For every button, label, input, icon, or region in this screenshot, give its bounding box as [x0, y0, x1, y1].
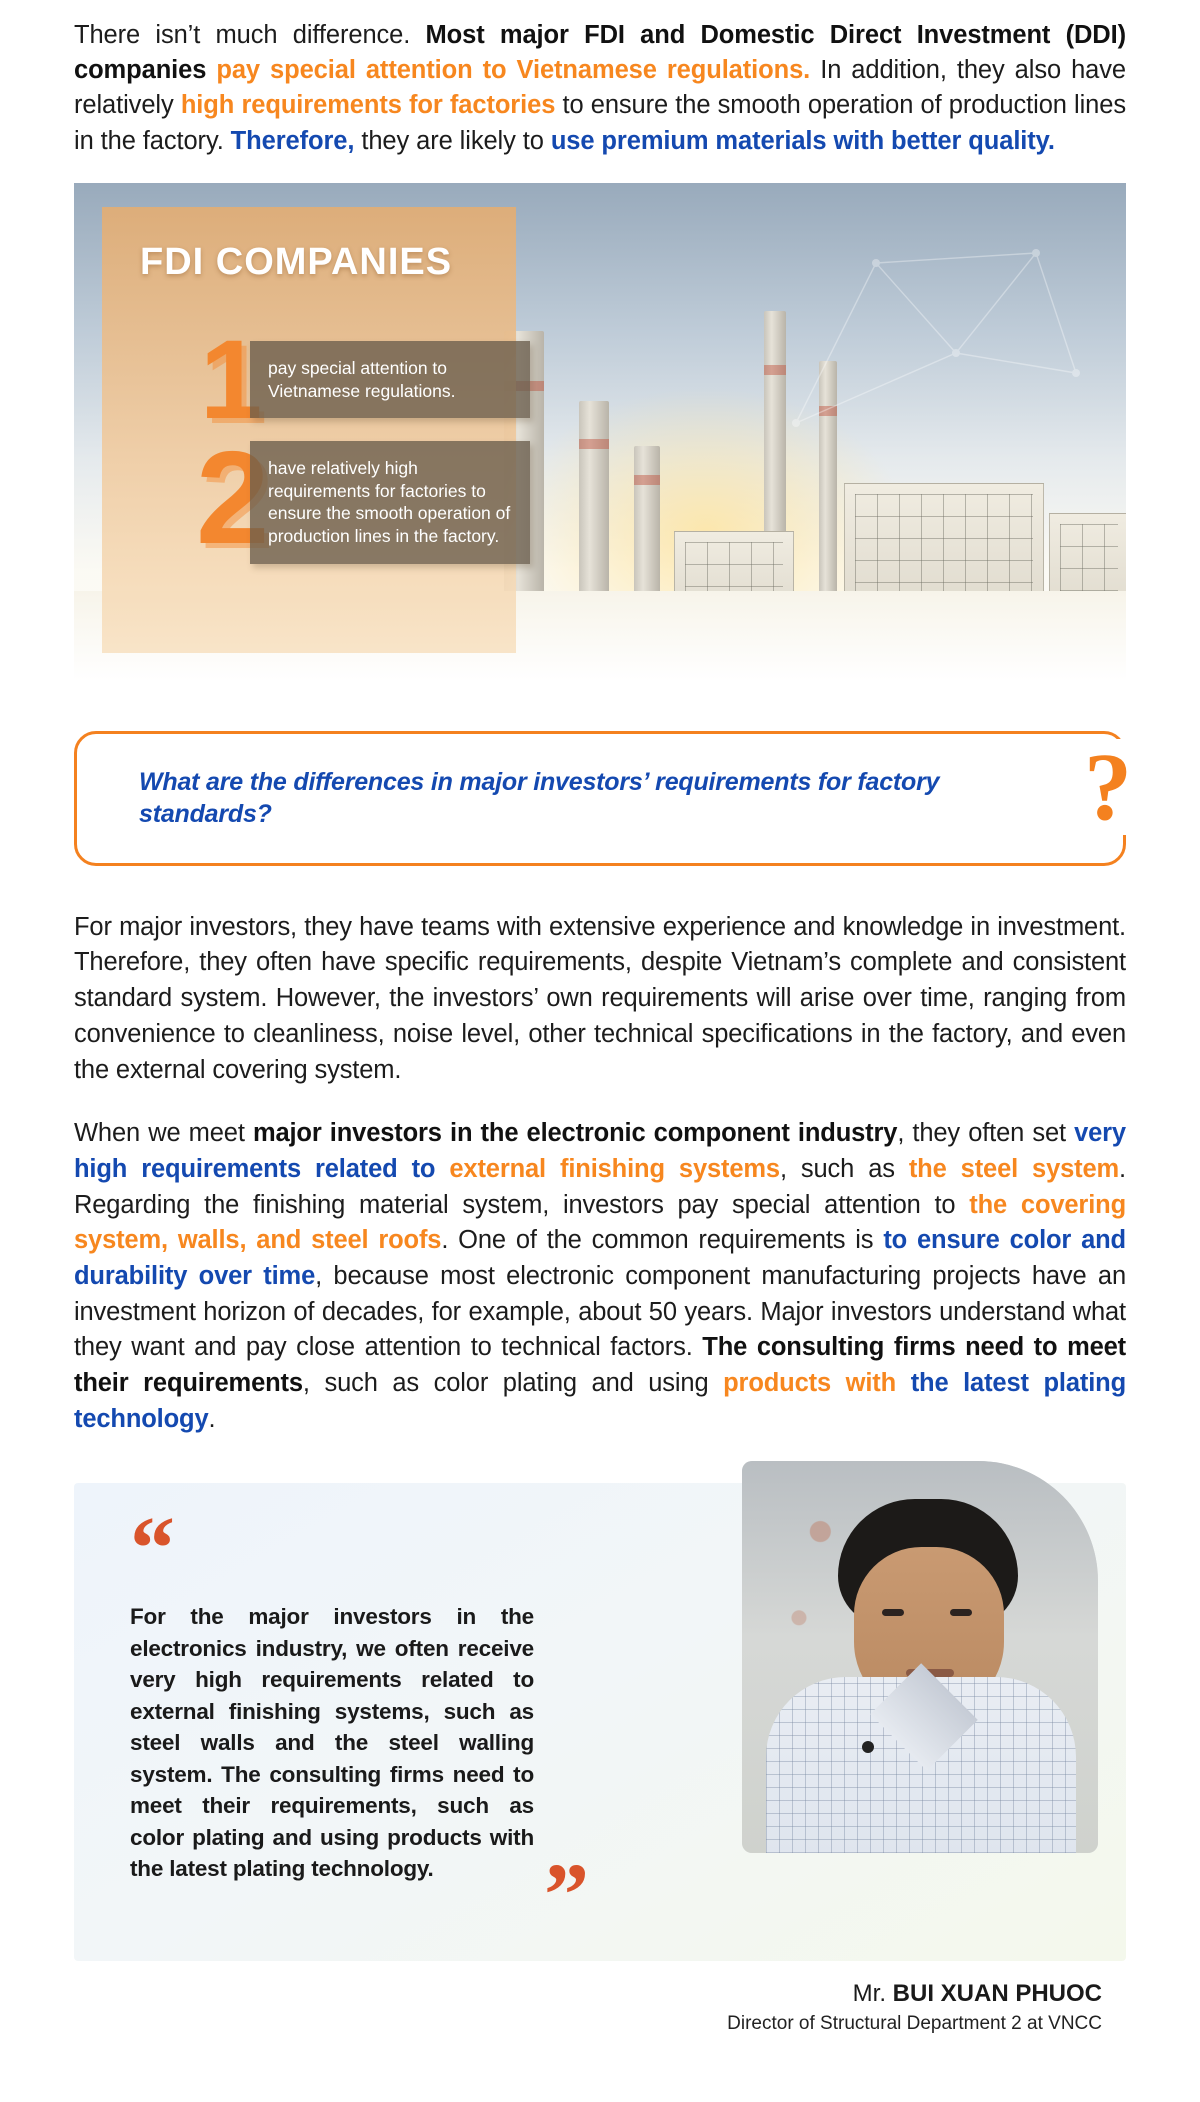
lapel-microphone-icon — [862, 1741, 874, 1753]
question-text: What are the differences in major invest… — [139, 766, 1003, 831]
intro-run-7: they are likely to — [354, 127, 550, 155]
body2-run-2: , they often set — [897, 1119, 1074, 1147]
body-paragraph-1: For major investors, they have teams wit… — [74, 910, 1126, 1088]
network-lines-overlay — [786, 223, 1086, 453]
body2-run-6: the steel system — [909, 1155, 1119, 1183]
intro-run-0: There isn’t much difference. — [74, 21, 426, 49]
portrait-eye-left — [882, 1609, 904, 1616]
intro-paragraph: There isn’t much difference. Most major … — [0, 0, 1200, 159]
pull-quote-block: “ For the major investors in the electro… — [74, 1483, 1126, 1961]
body2-run-13: , such as color plating and using — [303, 1369, 723, 1397]
body2-run-5: , such as — [780, 1155, 909, 1183]
infographic-callout-2: have relatively high requirements for fa… — [250, 441, 530, 564]
question-mark-icon: ? — [1078, 739, 1138, 835]
body2-run-1: major investors in the electronic compon… — [253, 1119, 897, 1147]
article-page: There isn’t much difference. Most major … — [0, 0, 1200, 2102]
question-callout: What are the differences in major invest… — [74, 731, 1126, 866]
article-body: For major investors, they have teams wit… — [0, 910, 1200, 1438]
infographic-title: FDI COMPANIES — [140, 241, 452, 284]
question-box: What are the differences in major invest… — [74, 731, 1126, 866]
quote-open-icon: “ — [130, 1517, 175, 1580]
attribution-name-line: Mr. BUI XUAN PHUOC — [727, 1980, 1102, 2008]
fdi-companies-infographic: FDI COMPANIES 1 2 pay special attention … — [74, 183, 1126, 681]
quote-close-icon: ” — [544, 1864, 589, 1927]
attribution-prefix: Mr. — [853, 1980, 893, 2007]
speaker-portrait — [742, 1461, 1098, 1853]
intro-run-4: high requirements for factories — [181, 91, 555, 119]
attribution-name: BUI XUAN PHUOC — [893, 1980, 1102, 2007]
portrait-shirt — [766, 1677, 1076, 1853]
intro-run-2: pay special attention to Vietnamese regu… — [216, 56, 810, 84]
intro-run-6: Therefore, — [231, 127, 355, 155]
infographic-callout-1: pay special attention to Vietnamese regu… — [250, 341, 530, 419]
body1-run-0: For major investors, they have teams wit… — [74, 913, 1126, 1084]
body2-run-16: . — [209, 1405, 216, 1433]
body2-run-9: . One of the common requirements is — [441, 1226, 883, 1254]
smokestack-icon — [634, 446, 660, 611]
intro-run-8: use premium materials with better qualit… — [551, 127, 1055, 155]
smokestack-icon — [579, 401, 609, 611]
attribution-role: Director of Structural Department 2 at V… — [727, 2013, 1102, 2035]
body2-run-14: products with — [723, 1369, 911, 1397]
portrait-eye-right — [950, 1609, 972, 1616]
quote-text: For the major investors in the electroni… — [130, 1601, 534, 1885]
quote-attribution: Mr. BUI XUAN PHUOC Director of Structura… — [727, 1980, 1102, 2035]
body-paragraph-2: When we meet major investors in the elec… — [74, 1116, 1126, 1437]
body2-run-0: When we meet — [74, 1119, 253, 1147]
body2-run-4: external finishing systems — [449, 1155, 780, 1183]
portrait-collar — [870, 1664, 977, 1771]
